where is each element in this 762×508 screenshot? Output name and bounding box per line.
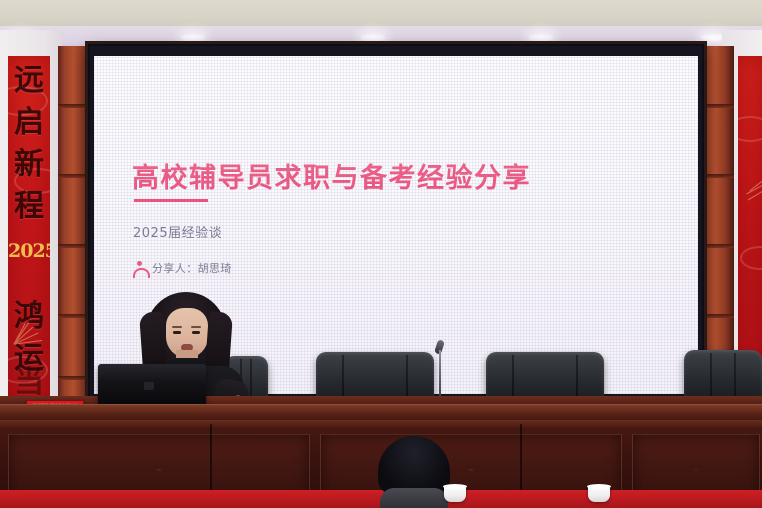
laptop <box>98 364 206 408</box>
couplet-char: 当 <box>8 366 50 400</box>
paper-cup <box>444 486 466 502</box>
slide-subtitle: 2025届经验谈 <box>133 222 222 241</box>
downlight <box>180 33 206 42</box>
audience-member <box>378 436 450 508</box>
firework-burst-icon <box>738 176 762 206</box>
slide-accent-rule <box>134 199 208 202</box>
slide-presenter-row: 分享人：胡思琦 <box>133 260 232 276</box>
slide-title: 高校辅导员求职与备考经验分享 <box>132 156 531 195</box>
couplet-char: 启 <box>8 106 50 140</box>
person-icon <box>133 261 146 276</box>
wood-column-left <box>58 46 92 411</box>
couplet-char: 鸿 <box>8 300 50 334</box>
couplet-char: 程 <box>8 190 50 224</box>
slide-presenter-label: 分享人：胡思琦 <box>152 260 232 276</box>
conference-room-photo: 远 启 新 程 2025 鸿 运 当 高校辅导员求职与备考经验分享 <box>0 0 762 508</box>
downlight <box>528 33 554 42</box>
couplet-char: 新 <box>8 148 50 182</box>
paper-cup <box>588 486 610 502</box>
downlight <box>360 33 386 42</box>
couplet-char: 远 <box>8 64 50 98</box>
couplet-year: 2025 <box>8 240 50 262</box>
new-year-couplet-left: 远 启 新 程 2025 鸿 运 当 <box>8 56 50 406</box>
desk-rail <box>0 420 762 430</box>
